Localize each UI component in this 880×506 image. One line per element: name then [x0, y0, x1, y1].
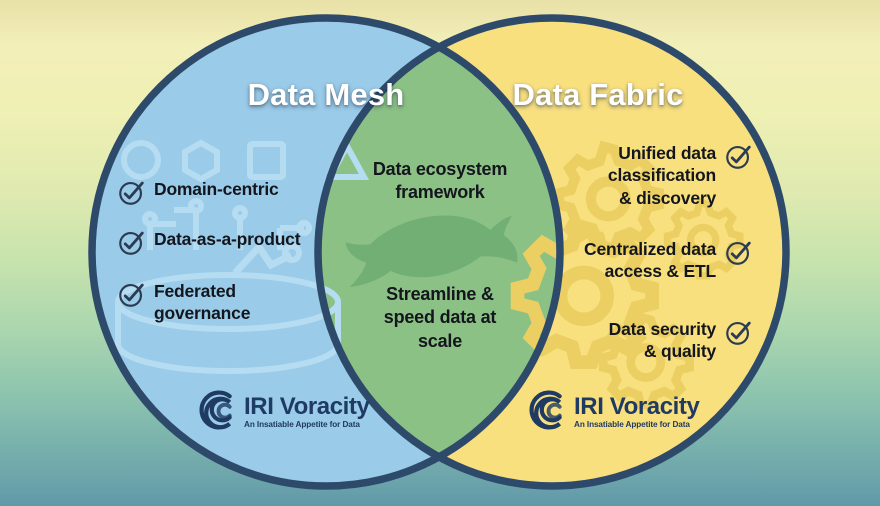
right-bullet-2[interactable]: Centralized data access & ETL [584, 238, 752, 283]
left-iri-voracity-logo[interactable]: IRI Voracity An Insatiable Appetite for … [193, 388, 369, 437]
left-bullet-3[interactable]: Federated governance [118, 280, 250, 325]
iri-swirl-icon [193, 388, 237, 437]
check-circle-icon [725, 319, 752, 351]
left-bullet-2[interactable]: Data-as-a-product [118, 228, 300, 261]
check-circle-icon [118, 229, 145, 261]
left-logo-tagline: An Insatiable Appetite for Data [244, 421, 369, 429]
right-bullet-3-label: Data security & quality [609, 318, 716, 363]
right-iri-voracity-logo[interactable]: IRI Voracity An Insatiable Appetite for … [523, 388, 699, 437]
right-logo-tagline: An Insatiable Appetite for Data [574, 421, 699, 429]
left-logo-wordmark: IRI Voracity [244, 395, 369, 419]
check-circle-icon [725, 239, 752, 271]
left-bullet-2-label: Data-as-a-product [154, 228, 300, 250]
overlap-top-text: Data ecosystem framework [355, 158, 525, 205]
venn-diagram-canvas: Data Mesh Data Fabric Domain-centric Dat… [0, 0, 880, 506]
right-bullet-1-label: Unified data classification & discovery [608, 142, 716, 209]
overlap-bottom-text: Streamline & speed data at scale [353, 283, 527, 353]
right-bullet-1[interactable]: Unified data classification & discovery [608, 142, 752, 209]
left-circle-title: Data Mesh [176, 77, 476, 113]
left-bullet-1-label: Domain-centric [154, 178, 279, 200]
right-bullet-3[interactable]: Data security & quality [609, 318, 752, 363]
check-circle-icon [725, 143, 752, 175]
right-circle-title: Data Fabric [448, 77, 748, 113]
iri-swirl-icon [523, 388, 567, 437]
left-bullet-1[interactable]: Domain-centric [118, 178, 279, 211]
check-circle-icon [118, 179, 145, 211]
check-circle-icon [118, 281, 145, 313]
right-bullet-2-label: Centralized data access & ETL [584, 238, 716, 283]
right-logo-wordmark: IRI Voracity [574, 395, 699, 419]
left-bullet-3-label: Federated governance [154, 280, 250, 325]
